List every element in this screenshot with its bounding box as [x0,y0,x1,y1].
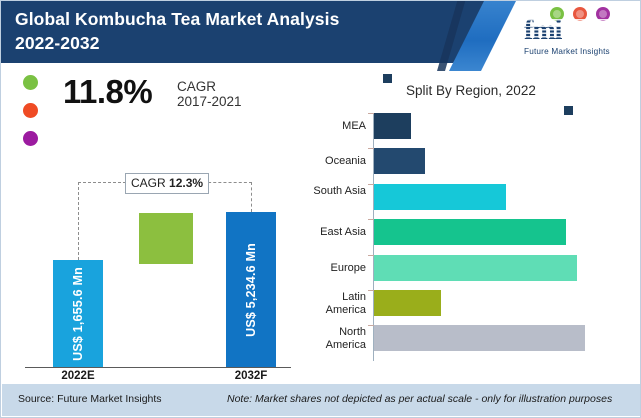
x-axis-line [25,367,291,368]
infographic-canvas: Global Kombucha Tea Market Analysis 2022… [0,0,641,418]
region-label-north-america: North America [301,326,366,351]
footer-source: Source: Future Market Insights [18,393,162,405]
bullet-dot-green-icon [23,75,38,90]
logo-dot-purple-icon [596,7,610,21]
cagr-annotation-value: 12.3% [169,176,203,190]
connector-line-right-horizontal [203,182,252,183]
cagr-caption-label: CAGR [177,79,242,94]
bullet-dot-orange-icon [23,103,38,118]
region-bar-latin-america [374,290,441,316]
region-split-chart: Split By Region, 2022 MEAOceaniaSouth As… [301,63,641,373]
region-label-europe: Europe [301,262,366,275]
region-bar-north-america [374,325,585,351]
connector-line-left-horizontal [78,182,126,183]
footer-bar: Source: Future Market Insights Note: Mar… [2,384,641,416]
bullet-dot-purple-icon [23,131,38,146]
region-label-oceania: Oceania [301,155,366,168]
bar-2022e: US$ 1,655.6 Mn [53,260,103,367]
cagr-annotation-box: CAGR 12.3% [125,173,209,194]
decorative-square-top-icon [383,74,392,83]
logo-caption: Future Market Insights [524,47,610,56]
region-bar-east-asia [374,219,566,245]
region-bar-south-asia [374,184,506,210]
cagr-caption: CAGR 2017-2021 [177,79,242,109]
logo-dot-orange-icon [573,7,587,21]
region-label-latin-america: Latin America [301,291,366,316]
footer-note: Note: Market shares not depicted as per … [227,393,612,405]
bar-2032f-value-label: US$ 5,234.6 Mn [244,243,258,337]
decorative-square-right-icon [564,106,573,115]
region-label-mea: MEA [301,120,366,133]
page-title-line2: 2022-2032 [15,31,435,55]
logo-wordmark: fmi [524,15,561,47]
page-title-line1: Global Kombucha Tea Market Analysis [15,9,339,29]
bar-2032f: US$ 5,234.6 Mn [226,212,276,367]
region-bar-oceania [374,148,425,174]
region-bar-mea [374,113,411,139]
region-chart-title: Split By Region, 2022 [406,83,536,98]
connector-line-right-vertical [251,182,252,212]
region-label-south-asia: South Asia [301,185,366,198]
region-bar-europe [374,255,577,281]
x-axis-label-2032f: 2032F [206,370,296,382]
bar-2022e-value-label: US$ 1,655.6 Mn [71,267,85,361]
accent-square [139,213,193,264]
cagr-caption-period: 2017-2021 [177,94,242,109]
market-size-chart: CAGR 12.3% US$ 1,655.6 Mn US$ 5,234.6 Mn… [1,161,301,391]
cagr-annotation-label: CAGR [131,176,166,190]
cagr-dot-column [23,75,39,149]
connector-line-left-vertical [78,182,79,260]
region-label-east-asia: East Asia [301,226,366,239]
fmi-logo: fmi Future Market Insights [510,7,630,57]
cagr-value: 11.8% [63,73,152,111]
x-axis-label-2022e: 2022E [33,370,123,382]
page-title: Global Kombucha Tea Market Analysis 2022… [15,7,435,55]
